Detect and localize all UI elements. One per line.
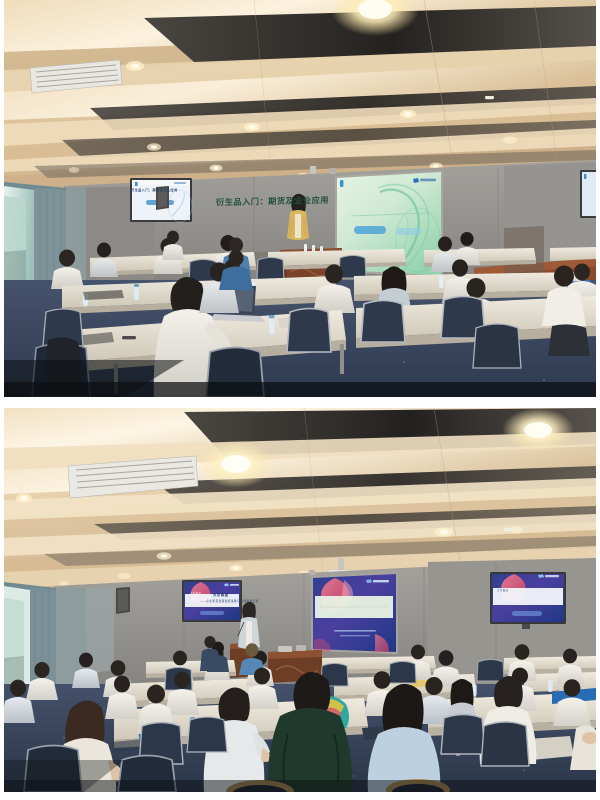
bottom-photo-canvas bbox=[4, 408, 596, 792]
water-bottle bbox=[312, 245, 315, 252]
chair bbox=[361, 301, 405, 343]
projection-screen bbox=[309, 570, 398, 654]
top-photo-canvas bbox=[4, 0, 596, 397]
wall-mounted-monitor-right bbox=[580, 170, 596, 218]
photo-collage-page: 衍生品入门：期货及企业应用 衍生品入门：期货及企业应用 bbox=[0, 0, 600, 800]
seminar-room-audience-shot bbox=[4, 408, 596, 792]
desk-equipment bbox=[278, 646, 292, 652]
seminar-room-wide-shot bbox=[4, 0, 596, 397]
page-bottom-margin bbox=[0, 792, 600, 800]
chair bbox=[473, 324, 521, 368]
chair bbox=[481, 722, 529, 766]
chair bbox=[187, 717, 227, 752]
water-bottle bbox=[269, 318, 275, 334]
chair bbox=[287, 309, 331, 353]
wall-speaker bbox=[156, 186, 169, 210]
chair bbox=[441, 715, 485, 755]
stylus bbox=[122, 336, 136, 339]
screen-corner-tab bbox=[340, 180, 343, 187]
desk-equipment bbox=[296, 645, 306, 651]
wall-mounted-monitor-left bbox=[182, 580, 242, 622]
water-bottle bbox=[439, 276, 444, 288]
ceiling-lamp-secondary bbox=[502, 408, 574, 452]
water-bottle bbox=[304, 244, 307, 252]
panel-divider bbox=[0, 397, 600, 408]
wall-speaker bbox=[116, 587, 130, 614]
water-bottle bbox=[134, 286, 139, 300]
screen-badge-left bbox=[354, 226, 386, 234]
ceiling bbox=[4, 0, 596, 191]
wall-mounted-monitor-right bbox=[490, 572, 566, 629]
dark-green-jacket bbox=[268, 708, 353, 792]
ceiling-sensor bbox=[485, 96, 494, 99]
water-bottle bbox=[548, 680, 553, 692]
ceiling-sensor bbox=[504, 528, 514, 531]
screen-badge-right bbox=[396, 228, 422, 235]
ceiling-lamp-primary bbox=[198, 440, 274, 488]
